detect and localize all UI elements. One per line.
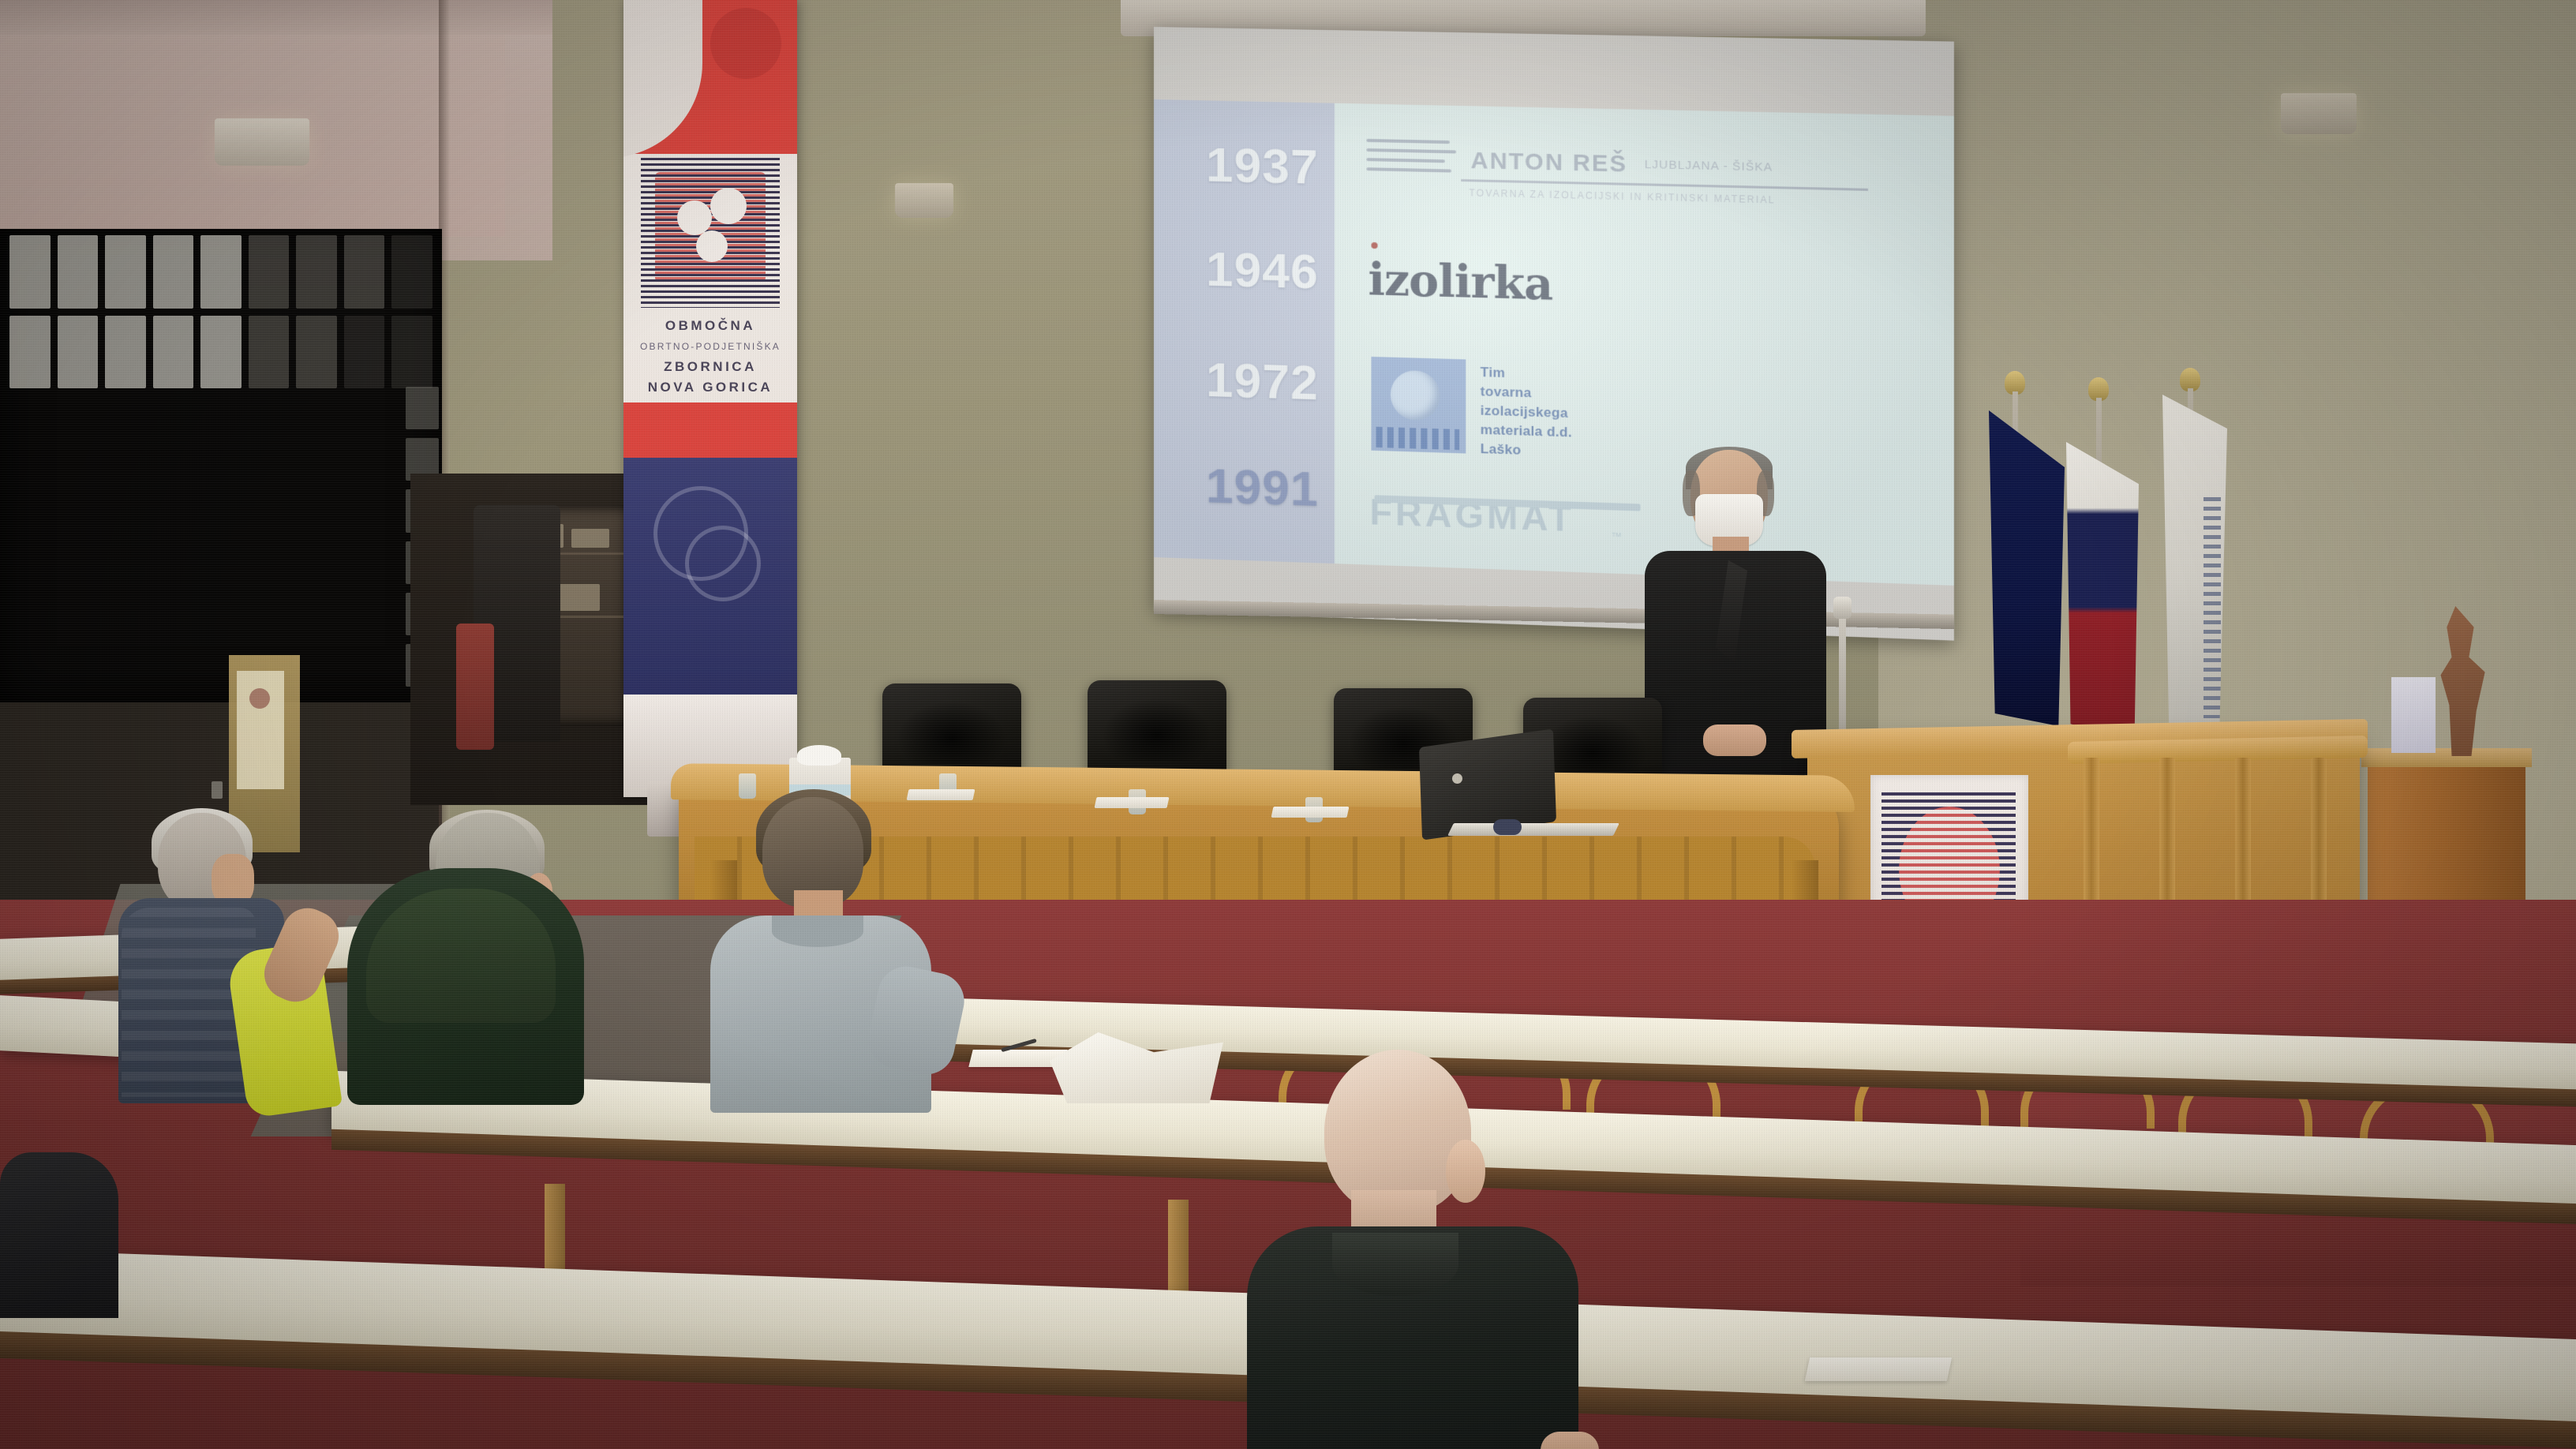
- slide-year-1946: 1946: [1206, 241, 1319, 301]
- wall-sconce-right: [2281, 93, 2357, 134]
- banner-bottom-red-block: [623, 402, 797, 458]
- door-handle-icon[interactable]: [212, 781, 223, 799]
- bench-paper-2[interactable]: [1805, 1357, 1952, 1381]
- logo-tim-line-3: izolacijskega: [1481, 401, 1572, 423]
- laptop-logo-icon: [1452, 773, 1462, 784]
- microphone-icon: [1833, 597, 1851, 619]
- logo-tim-line-2: tovarna: [1481, 382, 1572, 404]
- slide-years-panel: 1937 1946 1972 1991: [1154, 99, 1335, 563]
- banner-line-4: NOVA GORICA: [623, 377, 797, 398]
- logo-tim-lines: Tim tovarna izolacijskega materiala d.d.…: [1481, 363, 1572, 462]
- slide-year-1972: 1972: [1206, 352, 1319, 411]
- audience-5-shoulder: [0, 1152, 118, 1318]
- rollup-banner: OBMOČNA OBRTNO-PODJETNIŠKA ZBORNICA NOVA…: [623, 0, 797, 797]
- table-paper-2[interactable]: [1095, 797, 1170, 808]
- drinking-glass-1[interactable]: [739, 773, 756, 799]
- banner-bottom-blue-block: [623, 458, 797, 695]
- water-bottle-1[interactable]: [713, 740, 734, 799]
- logo-tim-line-4: materiala d.d.: [1481, 421, 1572, 443]
- audience-member-4: [1247, 1050, 1610, 1449]
- logo-anton-res: ANTON REŠ LJUBLJANA - ŠIŠKA TOVARNA ZA I…: [1366, 133, 1870, 218]
- slide-year-1991: 1991: [1206, 458, 1319, 518]
- audience-4-collar: [1332, 1233, 1458, 1296]
- flag-chamber: [2162, 395, 2227, 734]
- audience-member-2: [347, 813, 600, 1144]
- flag-slovenia: [2066, 442, 2139, 742]
- banner-title: OBMOČNA OBRTNO-PODJETNIŠKA ZBORNICA NOVA…: [623, 316, 797, 398]
- banner-line-2: OBRTNO-PODJETNIŠKA: [623, 336, 797, 357]
- presenter-hands: [1703, 724, 1766, 756]
- audience-member-5-partial: [0, 1152, 126, 1326]
- slide-year-1937: 1937: [1206, 137, 1319, 195]
- logo-anton-res-name: ANTON REŠ: [1470, 148, 1627, 178]
- glass-block-wall: [0, 229, 442, 702]
- logo-tim-line-1: Tim: [1481, 363, 1572, 385]
- logo-izolirka: izolirka: [1368, 253, 1552, 311]
- chamber-of-crafts-logo: [641, 158, 780, 308]
- audience-4-ear: [1446, 1140, 1485, 1203]
- logo-izolirka-text: izolirka: [1368, 253, 1552, 311]
- conference-hall-photo: OBMOČNA OBRTNO-PODJETNIŠKA ZBORNICA NOVA…: [0, 0, 2576, 1449]
- door-notice: [237, 671, 284, 789]
- table-paper-3[interactable]: [1271, 807, 1350, 818]
- ceiling: [0, 0, 552, 35]
- glass-block-grid: [0, 229, 442, 395]
- statue-pedestal-top: [2361, 748, 2532, 767]
- audience-member-1: [118, 813, 339, 1129]
- audience-member-3: [710, 797, 971, 1129]
- laptop-keyboard-base[interactable]: [1447, 823, 1619, 836]
- logo-tim-line-5: Laško: [1481, 440, 1572, 462]
- banner-line-1: OBMOČNA: [623, 316, 797, 336]
- logo-anton-res-tagline: TOVARNA ZA IZOLACIJSKI IN KRITINSKI MATE…: [1469, 187, 1775, 205]
- wall-sconce-left: [215, 118, 309, 166]
- computer-mouse[interactable]: [1493, 819, 1522, 835]
- hanging-red-garment: [456, 623, 494, 750]
- logo-anton-res-city: LJUBLJANA - ŠIŠKA: [1645, 158, 1773, 174]
- audience-3-collar: [772, 915, 863, 947]
- statue-info-card: [2391, 677, 2436, 753]
- banner-line-3: ZBORNICA: [623, 357, 797, 377]
- banner-circle-accent: [710, 8, 781, 79]
- audience-4-hand: [1541, 1432, 1599, 1449]
- wall-sconce-center: [895, 183, 953, 218]
